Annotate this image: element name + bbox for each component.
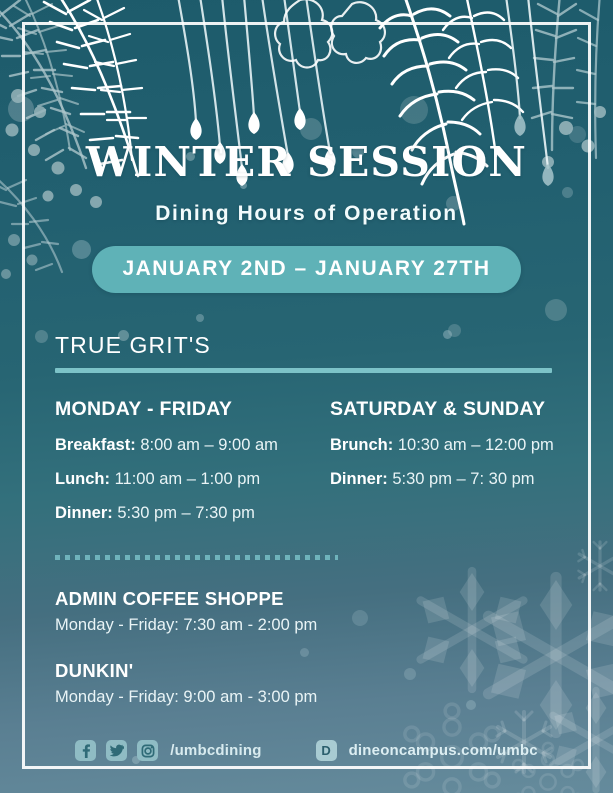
- meal-label: Brunch:: [330, 436, 393, 454]
- weekday-schedule: MONDAY - FRIDAY Breakfast: 8:00 am – 9:0…: [55, 398, 330, 538]
- meal-label: Dinner:: [330, 470, 388, 488]
- meal-hours: 5:30 pm – 7:30 pm: [117, 504, 255, 522]
- facebook-glyph: [80, 744, 92, 758]
- main-venue-schedule: MONDAY - FRIDAY Breakfast: 8:00 am – 9:0…: [55, 398, 555, 538]
- meal-hours: 5:30 pm – 7: 30 pm: [392, 470, 534, 488]
- poster-footer: /umbcdining D dineoncampus.com/umbc: [0, 740, 613, 761]
- page-title: WINTER SESSION: [0, 142, 613, 183]
- venue-name: ADMIN COFFEE SHOPPE: [55, 588, 555, 610]
- meal-row: Breakfast: 8:00 am – 9:00 am: [55, 436, 330, 455]
- weekend-heading: SATURDAY & SUNDAY: [330, 398, 555, 421]
- dineoncampus-icon[interactable]: D: [316, 740, 337, 761]
- venue-dunkin: DUNKIN' Monday - Friday: 9:00 am - 3:00 …: [55, 660, 555, 707]
- meal-row: Brunch: 10:30 am – 12:00 pm: [330, 436, 555, 455]
- date-range-badge: JANUARY 2ND – JANUARY 27TH: [92, 246, 520, 293]
- facebook-icon[interactable]: [75, 740, 96, 761]
- twitter-glyph: [110, 744, 124, 757]
- weekday-heading: MONDAY - FRIDAY: [55, 398, 330, 421]
- main-venue-name: TRUE GRIT'S: [55, 332, 555, 359]
- instagram-icon[interactable]: [137, 740, 158, 761]
- meal-label: Dinner:: [55, 504, 113, 522]
- meal-hours: 10:30 am – 12:00 pm: [398, 436, 554, 454]
- hours-content: TRUE GRIT'S MONDAY - FRIDAY Breakfast: 8…: [55, 332, 555, 707]
- page-subtitle: Dining Hours of Operation: [0, 202, 613, 226]
- meal-row: Lunch: 11:00 am – 1:00 pm: [55, 470, 330, 489]
- meal-hours: 8:00 am – 9:00 am: [140, 436, 278, 454]
- section-divider-rule: [55, 368, 552, 373]
- social-handle: /umbcdining: [170, 742, 261, 759]
- venue-hours: Monday - Friday: 9:00 am - 3:00 pm: [55, 688, 555, 707]
- weekend-schedule: SATURDAY & SUNDAY Brunch: 10:30 am – 12:…: [330, 398, 555, 538]
- venue-admin-coffee-shoppe: ADMIN COFFEE SHOPPE Monday - Friday: 7:3…: [55, 588, 555, 635]
- instagram-glyph: [141, 744, 155, 758]
- meal-row: Dinner: 5:30 pm – 7:30 pm: [55, 504, 330, 523]
- venue-hours: Monday - Friday: 7:30 am - 2:00 pm: [55, 616, 555, 635]
- meal-hours: 11:00 am – 1:00 pm: [115, 470, 261, 488]
- twitter-icon[interactable]: [106, 740, 127, 761]
- meal-label: Breakfast:: [55, 436, 136, 454]
- winter-session-poster: WINTER SESSION Dining Hours of Operation…: [0, 0, 613, 793]
- meal-row: Dinner: 5:30 pm – 7: 30 pm: [330, 470, 555, 489]
- dotted-divider: [55, 555, 338, 560]
- venue-name: DUNKIN': [55, 660, 555, 682]
- poster-header: WINTER SESSION Dining Hours of Operation…: [0, 0, 613, 293]
- meal-label: Lunch:: [55, 470, 110, 488]
- website-url: dineoncampus.com/umbc: [349, 742, 538, 759]
